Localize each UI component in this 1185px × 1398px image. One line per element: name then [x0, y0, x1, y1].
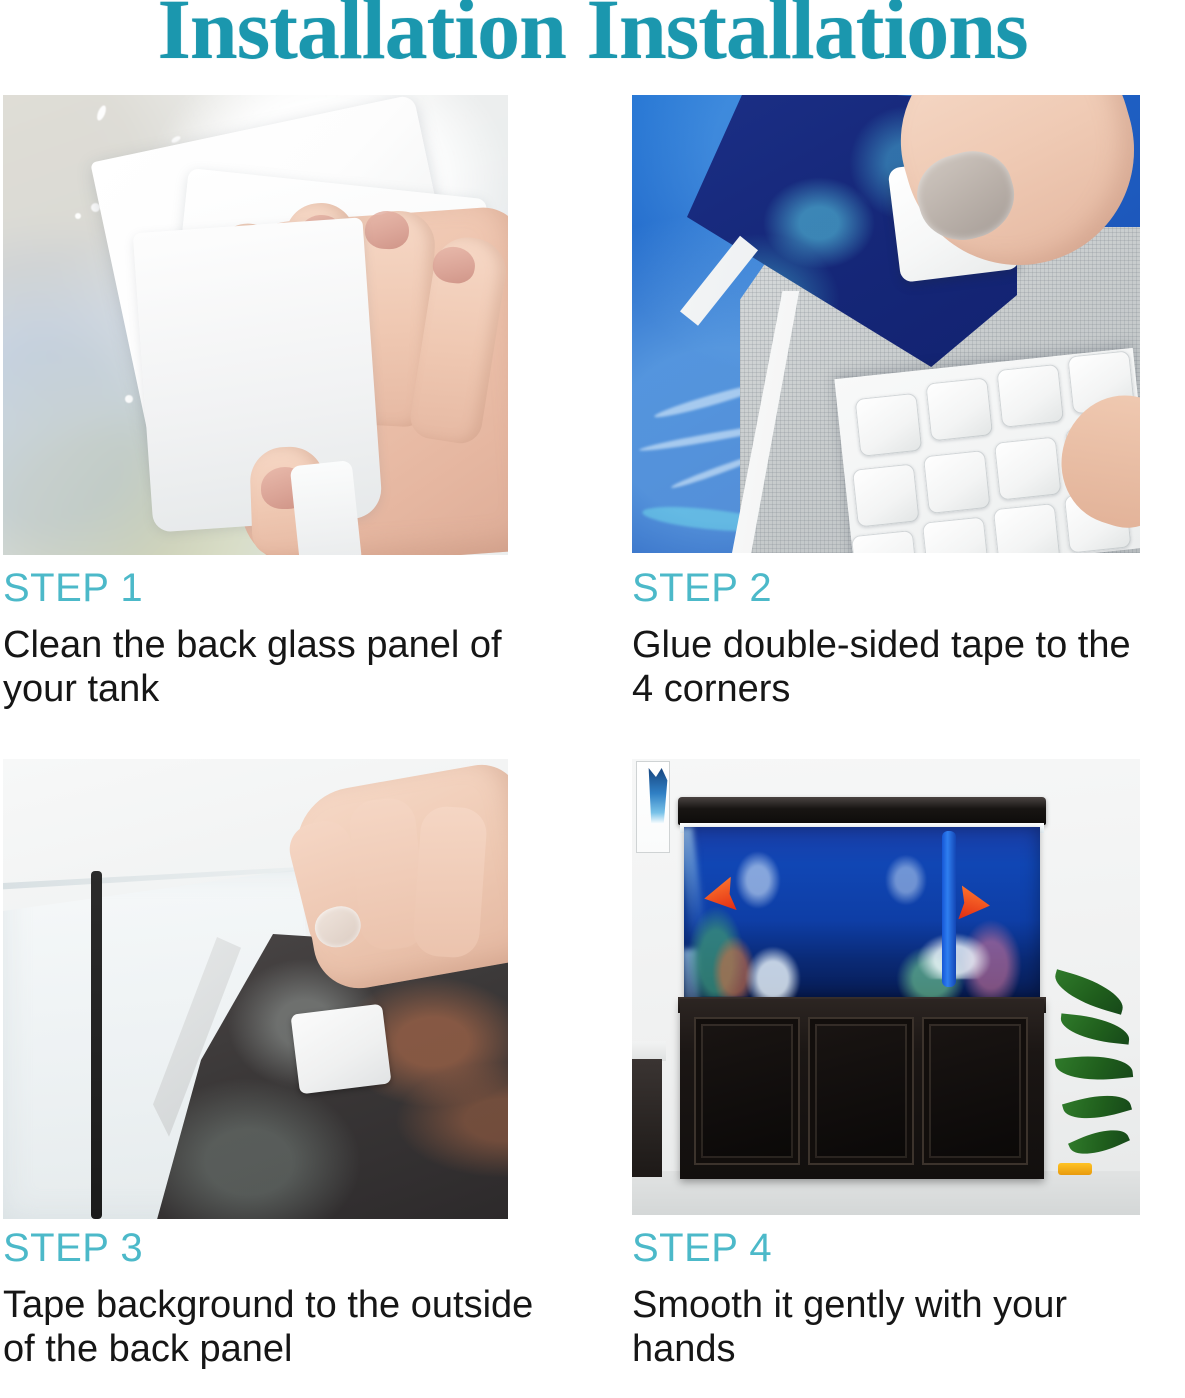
plant-leaf [1050, 969, 1128, 1014]
step-2-label: STEP 2 [632, 568, 1162, 608]
plant-leaf [1068, 1120, 1130, 1164]
step-3-description: Tape background to the outside of the ba… [3, 1283, 543, 1372]
plant-leaf [1062, 1086, 1132, 1127]
wall-art-frame [636, 761, 670, 853]
adhesive-pad [851, 530, 919, 553]
step-2-photo [632, 95, 1140, 553]
aquarium-hood [678, 797, 1046, 825]
step-2-description: Glue double-sided tape to the 4 corners [632, 623, 1162, 712]
double-sided-tape-square [290, 1004, 391, 1095]
coral-decor [744, 945, 802, 997]
step-2-caption: STEP 2 Glue double-sided tape to the 4 c… [632, 568, 1162, 712]
adhesive-pad [925, 377, 993, 441]
step-3-caption: STEP 3 Tape background to the outside of… [3, 1228, 543, 1372]
house-plant [1046, 969, 1138, 1159]
step-4-caption: STEP 4 Smooth it gently with your hands [632, 1228, 1162, 1372]
adhesive-pad [855, 393, 923, 457]
plant-leaf [1055, 1051, 1133, 1085]
adhesive-pad [996, 364, 1064, 428]
side-cabinet [632, 1059, 662, 1177]
adhesive-pad [922, 516, 990, 553]
adhesive-pad [923, 450, 991, 514]
fish-tail-right [958, 886, 991, 923]
cleaning-cloth-tip [290, 460, 363, 555]
wall-art-image [645, 768, 671, 824]
step-3-photo [3, 759, 508, 1219]
step-1-description: Clean the back glass panel of your tank [3, 623, 543, 712]
cabinet-door [694, 1017, 800, 1165]
step-4-photo [632, 759, 1140, 1215]
step-4-label: STEP 4 [632, 1228, 1162, 1268]
cabinet-stand [680, 999, 1044, 1179]
step-1-label: STEP 1 [3, 568, 543, 608]
aquarium-tank [684, 827, 1040, 997]
aquarium-heater-tube [942, 831, 956, 987]
side-table-top [632, 1041, 666, 1061]
finger [412, 805, 488, 959]
adhesive-pad [994, 436, 1062, 500]
adhesive-pad [993, 503, 1061, 553]
cabinet-door [808, 1017, 914, 1165]
tank-black-corner-trim [91, 871, 102, 1219]
step-panel-4: STEP 4 Smooth it gently with your hands [0, 0, 508, 456]
step-3-label: STEP 3 [3, 1228, 543, 1268]
adhesive-pad [852, 463, 920, 527]
bubble-cluster [882, 851, 930, 909]
bubble-cluster [732, 847, 784, 913]
plant-leaf [1059, 1013, 1131, 1044]
cabinet-door [922, 1017, 1028, 1165]
step-1-caption: STEP 1 Clean the back glass panel of you… [3, 568, 543, 712]
installation-instructions-page: Installation Installations [0, 0, 1185, 1398]
step-4-description: Smooth it gently with your hands [632, 1283, 1162, 1372]
yellow-floor-object [1058, 1163, 1092, 1175]
